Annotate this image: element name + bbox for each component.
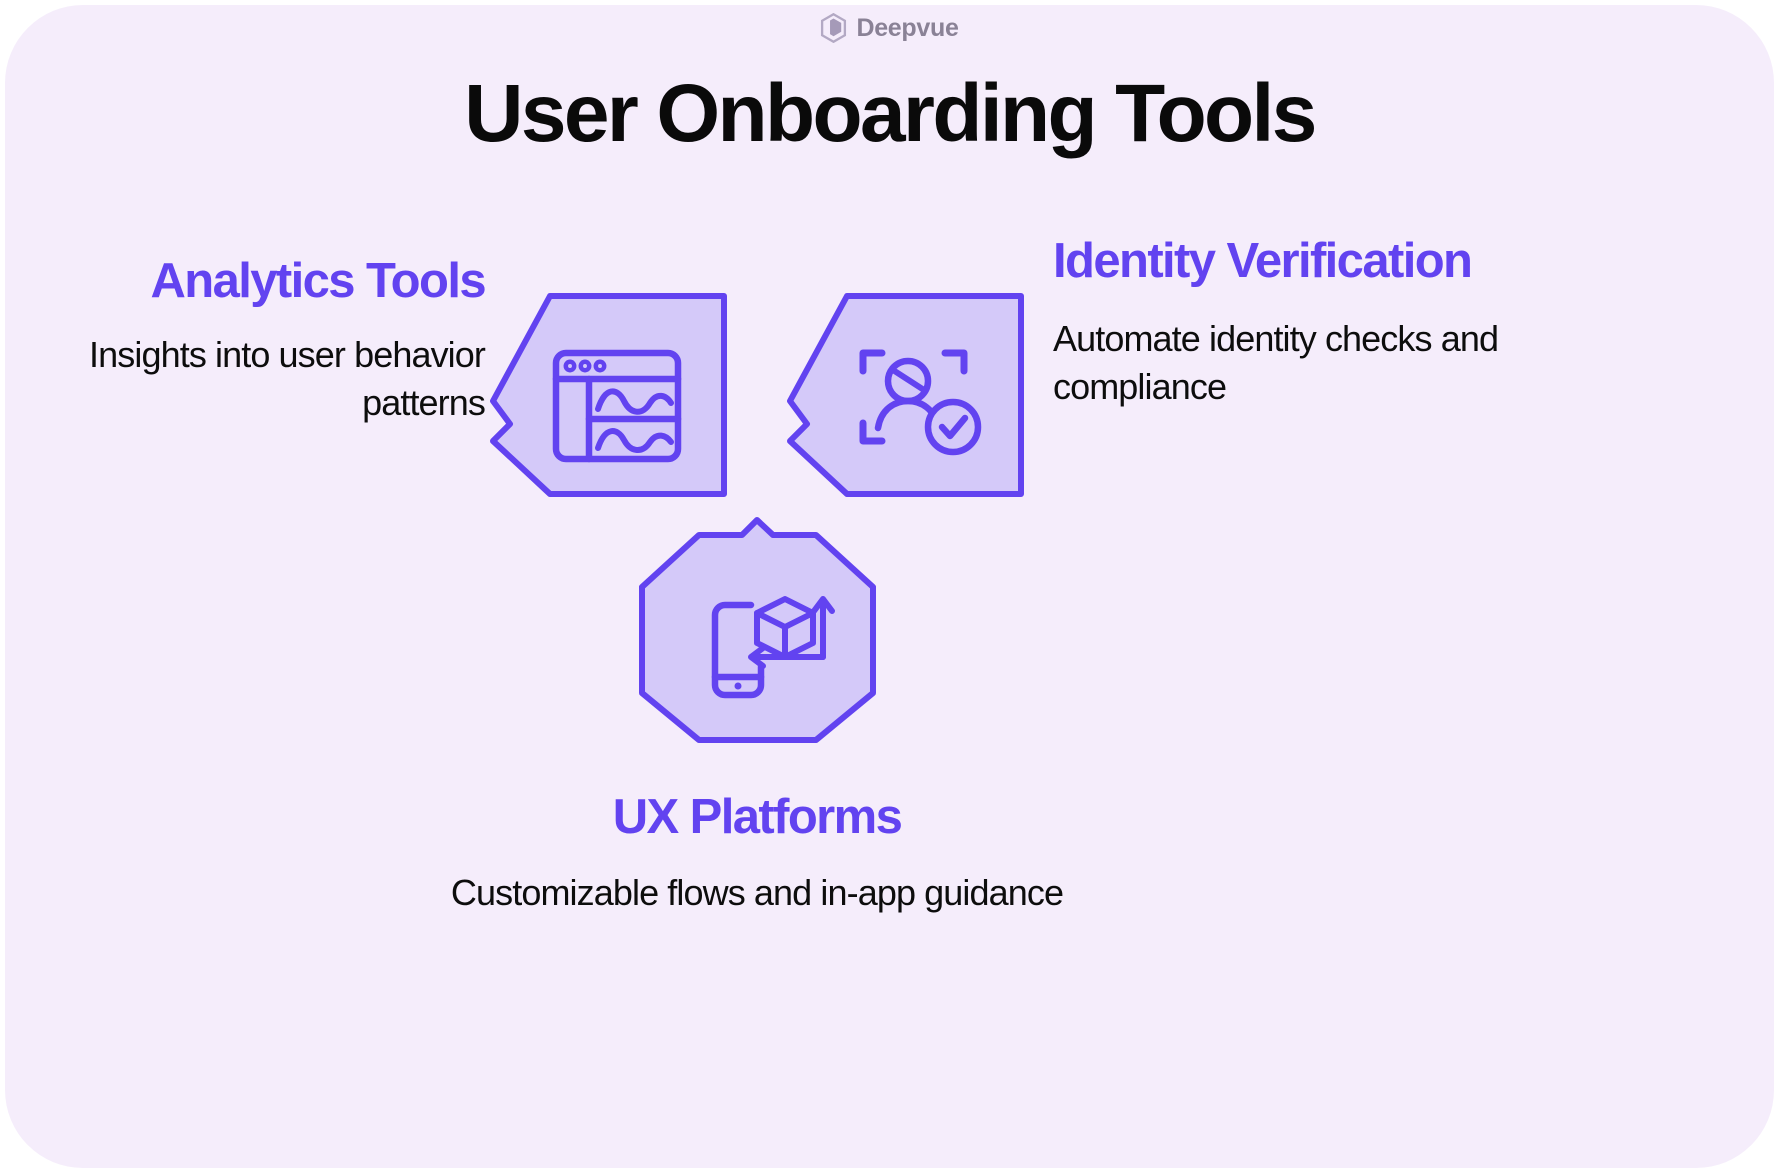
infographic-card: Deepvue User Onboarding Tools [5, 5, 1774, 1168]
hexagon-analytics [488, 291, 728, 499]
analytics-description: Insights into user behavior patterns [25, 331, 485, 427]
identity-title: Identity Verification [1053, 233, 1563, 291]
brand-logo: Deepvue [5, 13, 1774, 43]
mobile-flow-cube-icon [637, 517, 877, 745]
section-analytics-text: Analytics Tools Insights into user behav… [25, 253, 485, 427]
analytics-title: Analytics Tools [25, 253, 485, 311]
identity-description: Automate identity checks and compliance [1053, 315, 1563, 411]
section-identity-text: Identity Verification Automate identity … [1053, 233, 1563, 411]
hexagon-identity [785, 291, 1025, 499]
page-title: User Onboarding Tools [5, 67, 1774, 161]
identity-scan-face-check-icon [785, 291, 1025, 499]
ux-title: UX Platforms [407, 789, 1107, 847]
hexagon-ux [637, 517, 877, 745]
hexagon-logo-icon [820, 13, 847, 43]
section-ux-text: UX Platforms Customizable flows and in-a… [407, 789, 1107, 917]
brand-name: Deepvue [856, 16, 958, 41]
ux-description: Customizable flows and in-app guidance [407, 869, 1107, 917]
analytics-dashboard-icon [488, 291, 728, 499]
